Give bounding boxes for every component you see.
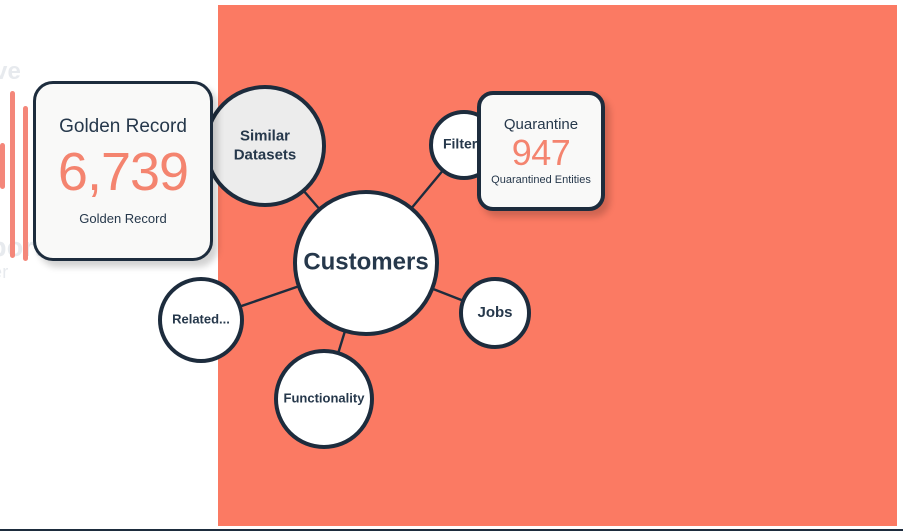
quarantine-title: Quarantine xyxy=(504,116,578,133)
node-label-similar-datasets: Similar xyxy=(240,128,290,145)
node-label-jobs: Jobs xyxy=(477,304,512,321)
graph-node-functionality[interactable]: Functionality xyxy=(276,351,372,447)
node-label-customers: Customers xyxy=(303,248,428,275)
golden-record-subtitle: Golden Record xyxy=(79,211,166,226)
quarantine-card[interactable]: Quarantine 947 Quarantined Entities xyxy=(477,91,605,211)
node-label-related: Related... xyxy=(172,311,230,326)
edge-customers-to-related xyxy=(239,286,300,307)
node-link-graph[interactable]: SimilarDatasetsFiltersJobsFunctionalityR… xyxy=(0,0,903,531)
golden-record-value: 6,739 xyxy=(58,144,188,201)
graph-node-customers[interactable]: Customers xyxy=(295,192,437,334)
quarantine-value: 947 xyxy=(512,133,571,173)
golden-record-card[interactable]: Golden Record 6,739 Golden Record xyxy=(33,81,213,261)
entity-graph-canvas: ve port er SimilarDatasetsFiltersJobsFun… xyxy=(0,0,903,531)
graph-node-jobs[interactable]: Jobs xyxy=(461,279,529,347)
golden-record-title: Golden Record xyxy=(59,116,187,138)
graph-node-similar-datasets[interactable]: SimilarDatasets xyxy=(206,87,324,205)
node-layer: SimilarDatasetsFiltersJobsFunctionalityR… xyxy=(160,87,529,447)
quarantine-subtitle: Quarantined Entities xyxy=(491,174,591,186)
edge-customers-to-jobs xyxy=(431,288,464,301)
node-label-similar-datasets: Datasets xyxy=(234,146,297,163)
edge-customers-to-functionality xyxy=(338,330,345,354)
node-label-functionality: Functionality xyxy=(284,390,366,405)
graph-node-related[interactable]: Related... xyxy=(160,279,242,361)
edge-customers-to-similar-datasets xyxy=(303,190,320,210)
edge-customers-to-filters xyxy=(411,170,444,210)
